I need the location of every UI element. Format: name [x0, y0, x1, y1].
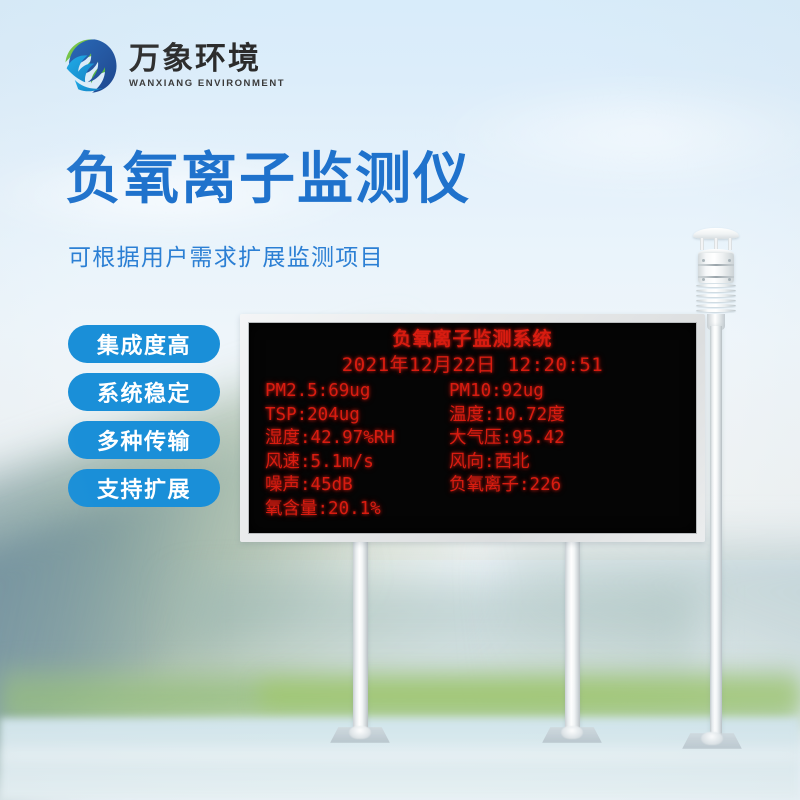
support-post-left	[353, 536, 368, 734]
product-photo-scene: 万象环境 WANXIANG ENVIRONMENT 负氧离子监测仪 可根据用户需…	[0, 0, 800, 800]
radiation-shield-fins	[696, 284, 736, 316]
led-reading: 风速:5.1m/s	[265, 454, 443, 478]
shield-fin	[696, 304, 736, 307]
led-reading: 负氧离子:226	[449, 477, 686, 501]
feature-badge-list: 集成度高 系统稳定 多种传输 支持扩展	[68, 325, 220, 507]
station-cap-post	[728, 238, 732, 250]
station-bolt	[702, 259, 705, 262]
led-reading: 温度:10.72度	[449, 407, 686, 431]
page-title: 负氧离子监测仪	[65, 152, 471, 208]
shield-fin	[696, 309, 736, 312]
base-hub-station	[701, 732, 723, 745]
station-cap-post	[700, 238, 704, 250]
led-reading: 大气压:95.42	[449, 430, 686, 454]
base-hub-right	[561, 726, 583, 739]
feature-badge: 多种传输	[68, 421, 220, 459]
led-readings-grid: PM2.5:69ug PM10:92ug TSP:204ug 温度:10.72度…	[265, 383, 686, 524]
weather-station-sensor-icon	[676, 228, 756, 758]
station-bolt	[728, 278, 731, 281]
led-reading: 噪声:45dB	[265, 477, 443, 501]
led-reading: PM10:92ug	[449, 383, 686, 407]
led-reading: 氧含量:20.1%	[265, 501, 443, 525]
brand-logo: 万象环境 WANXIANG ENVIRONMENT	[62, 36, 285, 96]
station-bolt	[702, 278, 705, 281]
led-reading: TSP:204ug	[265, 407, 443, 431]
globe-swirl-icon	[62, 36, 120, 96]
station-seam	[698, 264, 734, 266]
led-datetime: 2021年12月22日 12:20:51	[249, 356, 696, 375]
base-hub-left	[349, 726, 371, 739]
led-title: 负氧离子监测系统	[249, 330, 696, 349]
support-post-right	[565, 536, 580, 734]
brand-name-cn: 万象环境	[129, 43, 285, 75]
led-reading: 风向:西北	[449, 454, 686, 478]
led-reading: PM2.5:69ug	[265, 383, 443, 407]
feature-badge: 系统稳定	[68, 373, 220, 411]
shield-fin	[696, 284, 736, 287]
shield-fin	[696, 299, 736, 302]
feature-badge: 支持扩展	[68, 469, 220, 507]
shield-fin	[696, 289, 736, 292]
station-bolt	[728, 259, 731, 262]
led-screen: 负氧离子监测系统 2021年12月22日 12:20:51 PM2.5:69ug…	[248, 322, 697, 534]
sky-haze-right	[420, 80, 800, 190]
led-reading: 湿度:42.97%RH	[265, 430, 443, 454]
feature-badge: 集成度高	[68, 325, 220, 363]
page-subtitle: 可根据用户需求扩展监测项目	[68, 238, 384, 272]
station-mast	[710, 326, 722, 736]
shield-fin	[696, 294, 736, 297]
led-billboard: 负氧离子监测系统 2021年12月22日 12:20:51 PM2.5:69ug…	[240, 314, 705, 542]
brand-name-en: WANXIANG ENVIRONMENT	[129, 79, 285, 89]
